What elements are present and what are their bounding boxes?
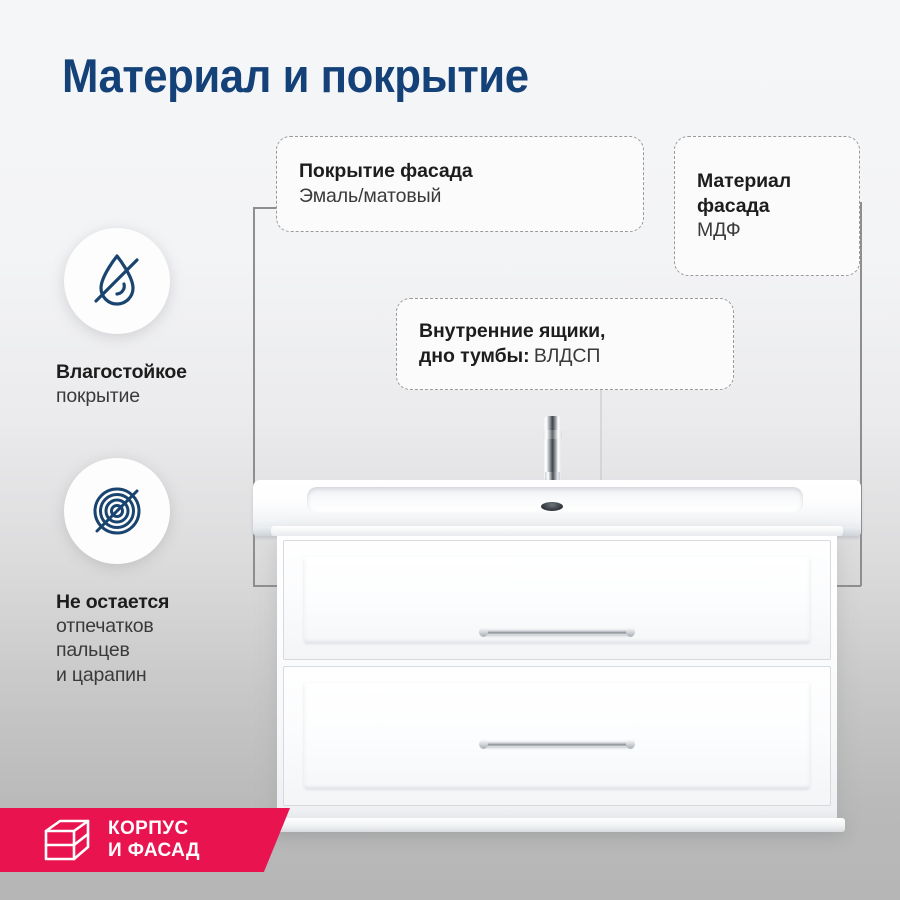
corpus-and-facade-banner: КОРПУС И ФАСАД <box>0 808 290 872</box>
bottom-drawer <box>283 666 831 806</box>
page-title: Материал и покрытие <box>62 48 529 103</box>
callout-drawers-heading-line1: Внутренние ящики, <box>419 319 711 344</box>
cabinet-box-icon <box>42 817 92 863</box>
top-drawer-handle <box>483 629 631 635</box>
faucet-icon <box>540 416 565 484</box>
banner-text: КОРПУС И ФАСАД <box>108 818 200 862</box>
connector-coating-h1 <box>253 207 277 209</box>
feature-water-icon-circle <box>64 228 170 334</box>
callout-drawers-value: ВЛДСП <box>534 345 600 367</box>
top-drawer <box>283 540 831 660</box>
callout-drawers-heading-line2: дно тумбы: <box>419 345 529 367</box>
callout-facade-coating: Покрытие фасада Эмаль/матовый <box>276 136 644 232</box>
vanity-cabinet <box>277 532 837 822</box>
callout-inner-drawers: Внутренние ящики, дно тумбы: ВЛДСП <box>396 298 734 390</box>
callout-facade-material: Материал фасада МДФ <box>674 136 860 276</box>
fingerprint-crossed-icon <box>84 478 150 544</box>
callout-drawers-line2: дно тумбы: ВЛДСП <box>419 344 711 369</box>
callout-material-heading-line2: фасада <box>697 194 837 219</box>
feature-water-bold-line: Влагостойкое <box>56 360 266 384</box>
feature-fingerprint-regular-line-3: и царапин <box>56 663 266 687</box>
feature-water-text: Влагостойкое покрытие <box>56 360 266 408</box>
product-image <box>253 398 861 858</box>
feature-fingerprint-text: Не остается отпечатков пальцев и царапин <box>56 590 266 687</box>
cabinet-plinth <box>269 818 845 832</box>
feature-fingerprint-bold-line: Не остается <box>56 590 266 614</box>
feature-fingerprint-icon-circle <box>64 458 170 564</box>
feature-fingerprint-regular-line-1: отпечатков <box>56 614 266 638</box>
callout-coating-value: Эмаль/матовый <box>299 184 621 209</box>
callout-material-value: МДФ <box>697 218 837 243</box>
product-infographic: Материал и покрытие <box>0 0 900 900</box>
callout-coating-heading: Покрытие фасада <box>299 159 621 184</box>
water-drop-crossed-icon <box>84 248 150 314</box>
banner-line-1: КОРПУС <box>108 818 200 840</box>
banner-line-2: И ФАСАД <box>108 840 200 862</box>
bottom-drawer-handle <box>483 741 631 747</box>
callout-material-heading-line1: Материал <box>697 169 837 194</box>
feature-fingerprint-regular-line-2: пальцев <box>56 638 266 662</box>
feature-water-regular-line-1: покрытие <box>56 384 266 408</box>
